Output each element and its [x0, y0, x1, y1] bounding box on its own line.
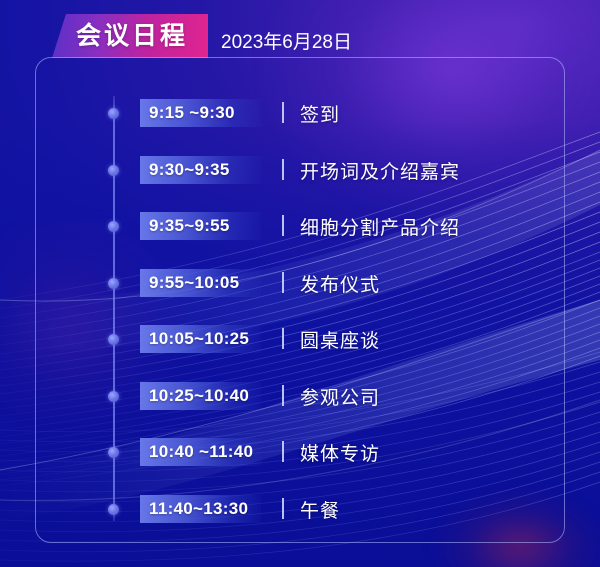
- timeline-dot-icon: [108, 334, 119, 345]
- agenda-event-label: 发布仪式: [300, 269, 380, 297]
- agenda-row: 9:30~9:35开场词及介绍嘉宾: [0, 153, 600, 187]
- timeline-dot-icon: [108, 391, 119, 402]
- agenda-time-badge: 9:55~10:05: [140, 269, 261, 297]
- agenda-row: 10:05~10:25圆桌座谈: [0, 322, 600, 356]
- timeline-dot-icon: [108, 165, 119, 176]
- agenda-row: 9:55~10:05发布仪式: [0, 266, 600, 300]
- agenda-separator: [282, 159, 284, 180]
- agenda-row: 11:40~13:30午餐: [0, 492, 600, 526]
- agenda-time-badge: 11:40~13:30: [140, 495, 261, 523]
- agenda-event-label: 参观公司: [300, 382, 380, 410]
- timeline-dot-icon: [108, 221, 119, 232]
- agenda-event-label: 签到: [300, 99, 340, 127]
- agenda-time-badge: 9:30~9:35: [140, 156, 261, 184]
- agenda-time-badge: 9:35~9:55: [140, 212, 261, 240]
- agenda-time-badge: 10:05~10:25: [140, 325, 261, 353]
- timeline-dot-icon: [108, 504, 119, 515]
- agenda-event-label: 开场词及介绍嘉宾: [300, 156, 460, 184]
- agenda-event-label: 媒体专访: [300, 438, 380, 466]
- agenda-event-label: 圆桌座谈: [300, 325, 380, 353]
- agenda-separator: [282, 328, 284, 349]
- timeline-dot-icon: [108, 447, 119, 458]
- agenda-row: 10:25~10:40参观公司: [0, 379, 600, 413]
- agenda-row: 9:35~9:55细胞分割产品介绍: [0, 209, 600, 243]
- agenda-separator: [282, 102, 284, 123]
- agenda-row: 9:15 ~9:30签到: [0, 96, 600, 130]
- agenda-list: 9:15 ~9:30签到9:30~9:35开场词及介绍嘉宾9:35~9:55细胞…: [0, 0, 600, 567]
- timeline-dot-icon: [108, 278, 119, 289]
- agenda-event-label: 午餐: [300, 495, 340, 523]
- agenda-separator: [282, 215, 284, 236]
- agenda-separator: [282, 272, 284, 293]
- conference-agenda-poster: 会议日程 2023年6月28日 9:15 ~9:30签到9:30~9:35开场词…: [0, 0, 600, 567]
- agenda-event-label: 细胞分割产品介绍: [300, 212, 460, 240]
- agenda-separator: [282, 441, 284, 462]
- timeline-dot-icon: [108, 108, 119, 119]
- agenda-time-badge: 10:25~10:40: [140, 382, 261, 410]
- agenda-time-badge: 10:40 ~11:40: [140, 438, 262, 466]
- agenda-separator: [282, 498, 284, 519]
- agenda-separator: [282, 385, 284, 406]
- agenda-time-badge: 9:15 ~9:30: [140, 99, 261, 127]
- agenda-row: 10:40 ~11:40媒体专访: [0, 435, 600, 469]
